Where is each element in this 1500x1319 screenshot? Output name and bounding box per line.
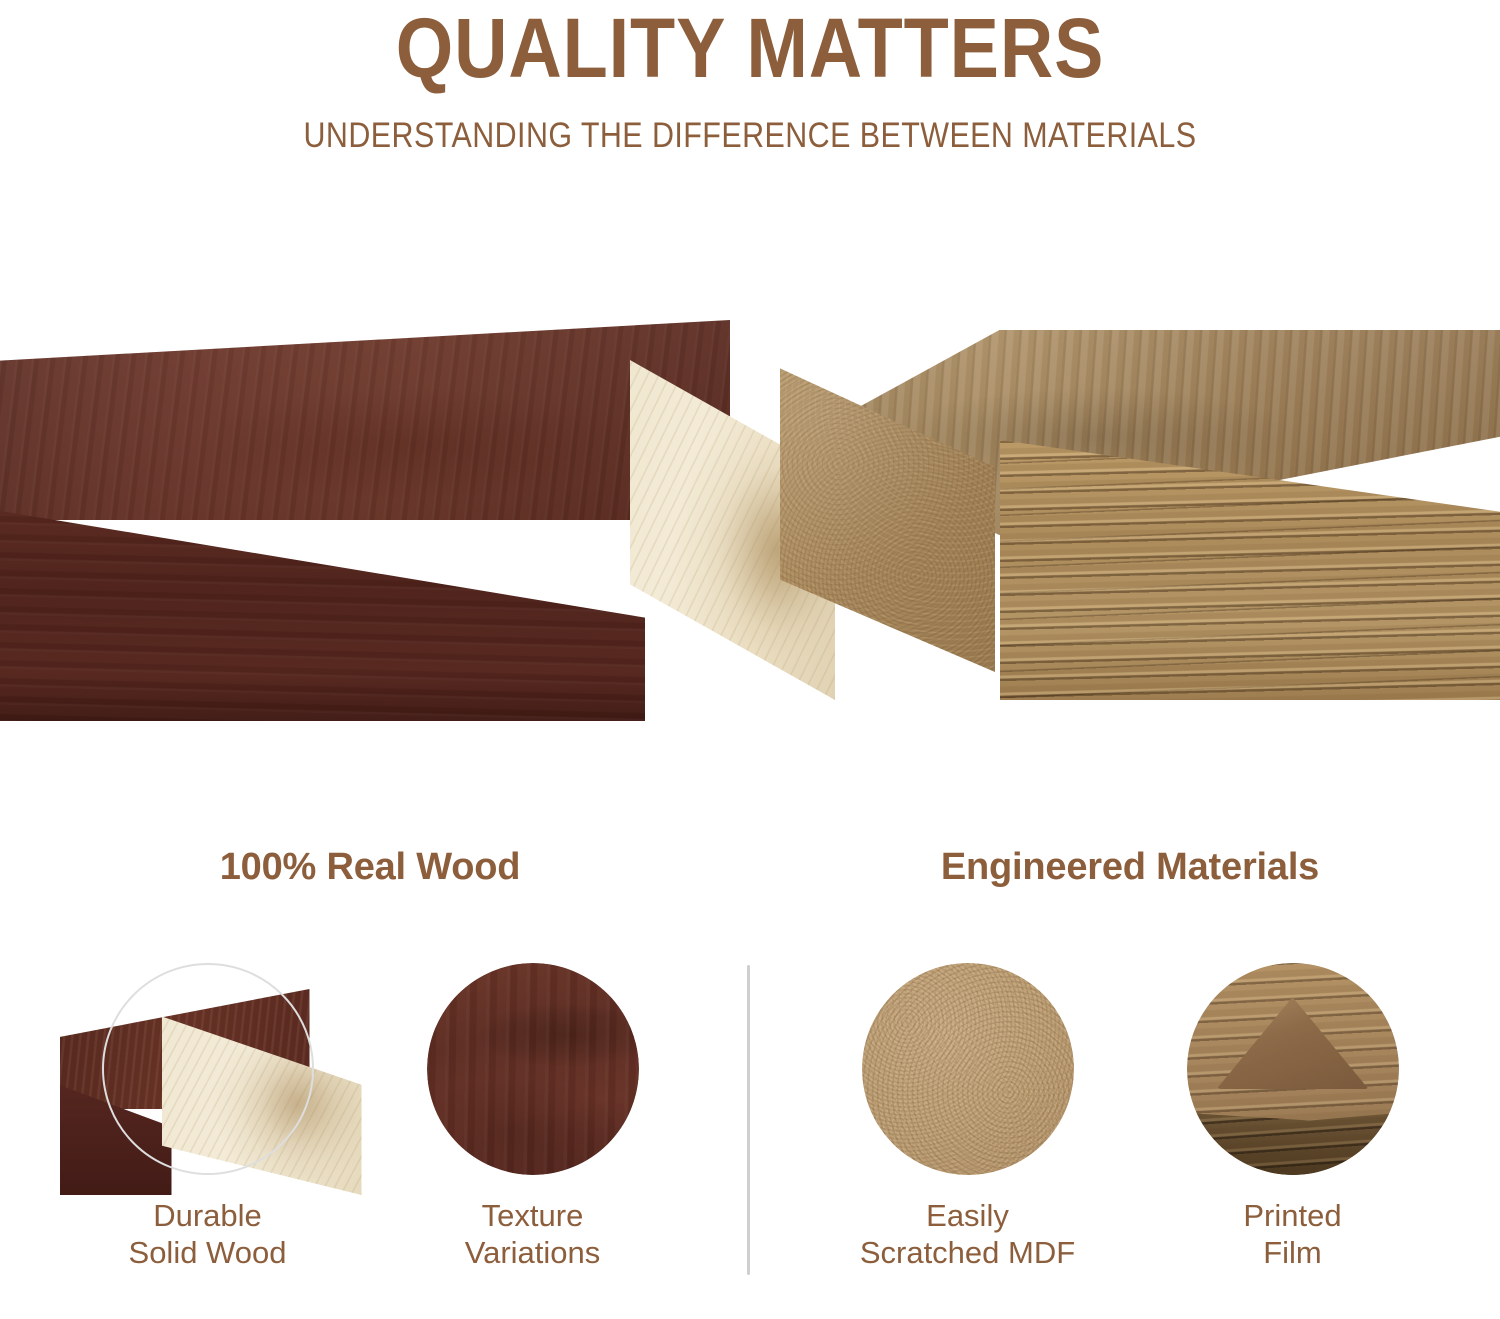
column-engineered: Engineered Materials Easily Scratched MD…	[780, 845, 1480, 889]
feature-row-engineered: Easily Scratched MDF Printed Film	[780, 963, 1480, 1271]
column-heading-engineered: Engineered Materials	[780, 845, 1480, 889]
column-divider	[747, 965, 750, 1275]
walnut-grain-disc-icon	[427, 963, 639, 1175]
feature-row-real-wood: Durable Solid Wood Texture Variations	[20, 963, 720, 1271]
feature-label-texture-variations: Texture Variations	[465, 1197, 601, 1271]
mdf-particleboard-illustration	[862, 963, 1074, 1175]
feature-label-printed-film: Printed Film	[1243, 1197, 1341, 1271]
feature-label-durable-solid-wood: Durable Solid Wood	[129, 1197, 287, 1271]
solid-wood-corner-illustration	[102, 963, 314, 1175]
feature-texture-variations: Texture Variations	[400, 963, 665, 1271]
page-subtitle: UNDERSTANDING THE DIFFERENCE BETWEEN MAT…	[98, 92, 1403, 156]
solid-wood-top-surface	[0, 320, 730, 520]
comparison-section: 100% Real Wood Durable Solid Wood	[0, 845, 1500, 1319]
engineered-printed-front-face	[1000, 440, 1500, 700]
feature-label-easily-scratched-mdf: Easily Scratched MDF	[860, 1197, 1075, 1271]
board-edge-layers	[1187, 1113, 1399, 1175]
column-heading-real-wood: 100% Real Wood	[20, 845, 720, 889]
feature-easily-scratched-mdf: Easily Scratched MDF	[835, 963, 1100, 1271]
feature-durable-solid-wood: Durable Solid Wood	[75, 963, 340, 1271]
mdf-particleboard-disc-icon	[862, 963, 1074, 1175]
solid-wood-front-face	[0, 501, 645, 721]
header: QUALITY MATTERS UNDERSTANDING THE DIFFER…	[0, 0, 1500, 156]
peeling-film-illustration	[1187, 963, 1399, 1175]
feature-printed-film: Printed Film	[1160, 963, 1425, 1271]
solid-wood-corner-icon	[102, 963, 314, 1175]
infographic-canvas: QUALITY MATTERS UNDERSTANDING THE DIFFER…	[0, 0, 1500, 1319]
walnut-grain-illustration	[427, 963, 639, 1175]
peeling-printed-film-icon	[1187, 963, 1399, 1175]
hero-photo-row	[0, 300, 1500, 720]
engineered-shelf-photo	[780, 330, 1500, 720]
solid-wood-shelf-photo	[0, 320, 730, 720]
column-real-wood: 100% Real Wood Durable Solid Wood	[20, 845, 720, 889]
page-title: QUALITY MATTERS	[90, 0, 1410, 92]
